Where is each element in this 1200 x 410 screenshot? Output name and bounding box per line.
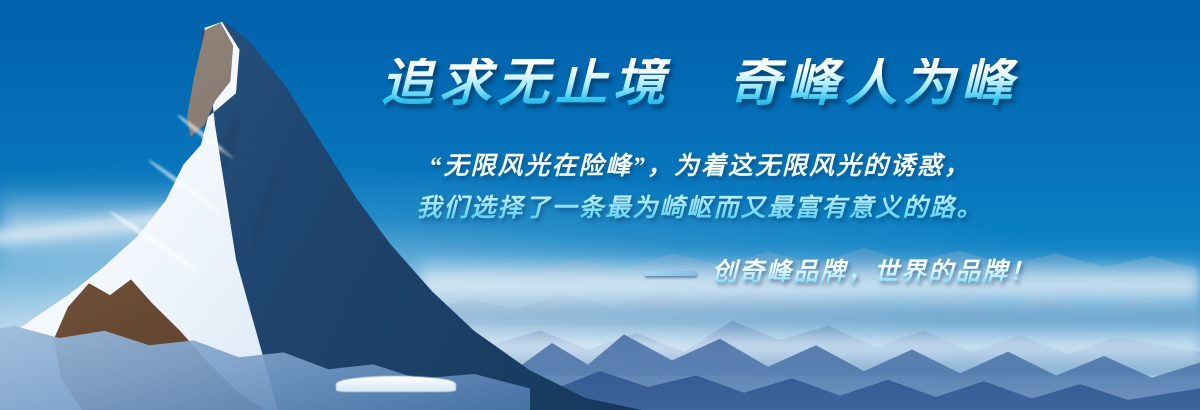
subtitle-line-2: 我们选择了一条最为崎岖而又最富有意义的路。 xyxy=(360,188,1040,230)
banner-subtitle: “无限风光在险峰”，为着这无限风光的诱惑， 我们选择了一条最为崎岖而又最富有意义… xyxy=(360,146,1040,230)
em-dash-icon xyxy=(644,271,696,276)
hero-banner: 追求无止境 奇峰人为峰 “无限风光在险峰”，为着这无限风光的诱惑， 我们选择了一… xyxy=(0,0,1200,410)
banner-attribution: 创奇峰品牌，世界的品牌！ xyxy=(360,256,1040,290)
subtitle-line-1: “无限风光在险峰”，为着这无限风光的诱惑， xyxy=(360,146,1040,188)
banner-text-block: 追求无止境 奇峰人为峰 “无限风光在险峰”，为着这无限风光的诱惑， 我们选择了一… xyxy=(360,58,1040,290)
snow-cornice xyxy=(336,376,456,392)
attribution-text: 创奇峰品牌，世界的品牌！ xyxy=(712,256,1036,290)
banner-headline: 追求无止境 奇峰人为峰 xyxy=(360,58,1040,110)
